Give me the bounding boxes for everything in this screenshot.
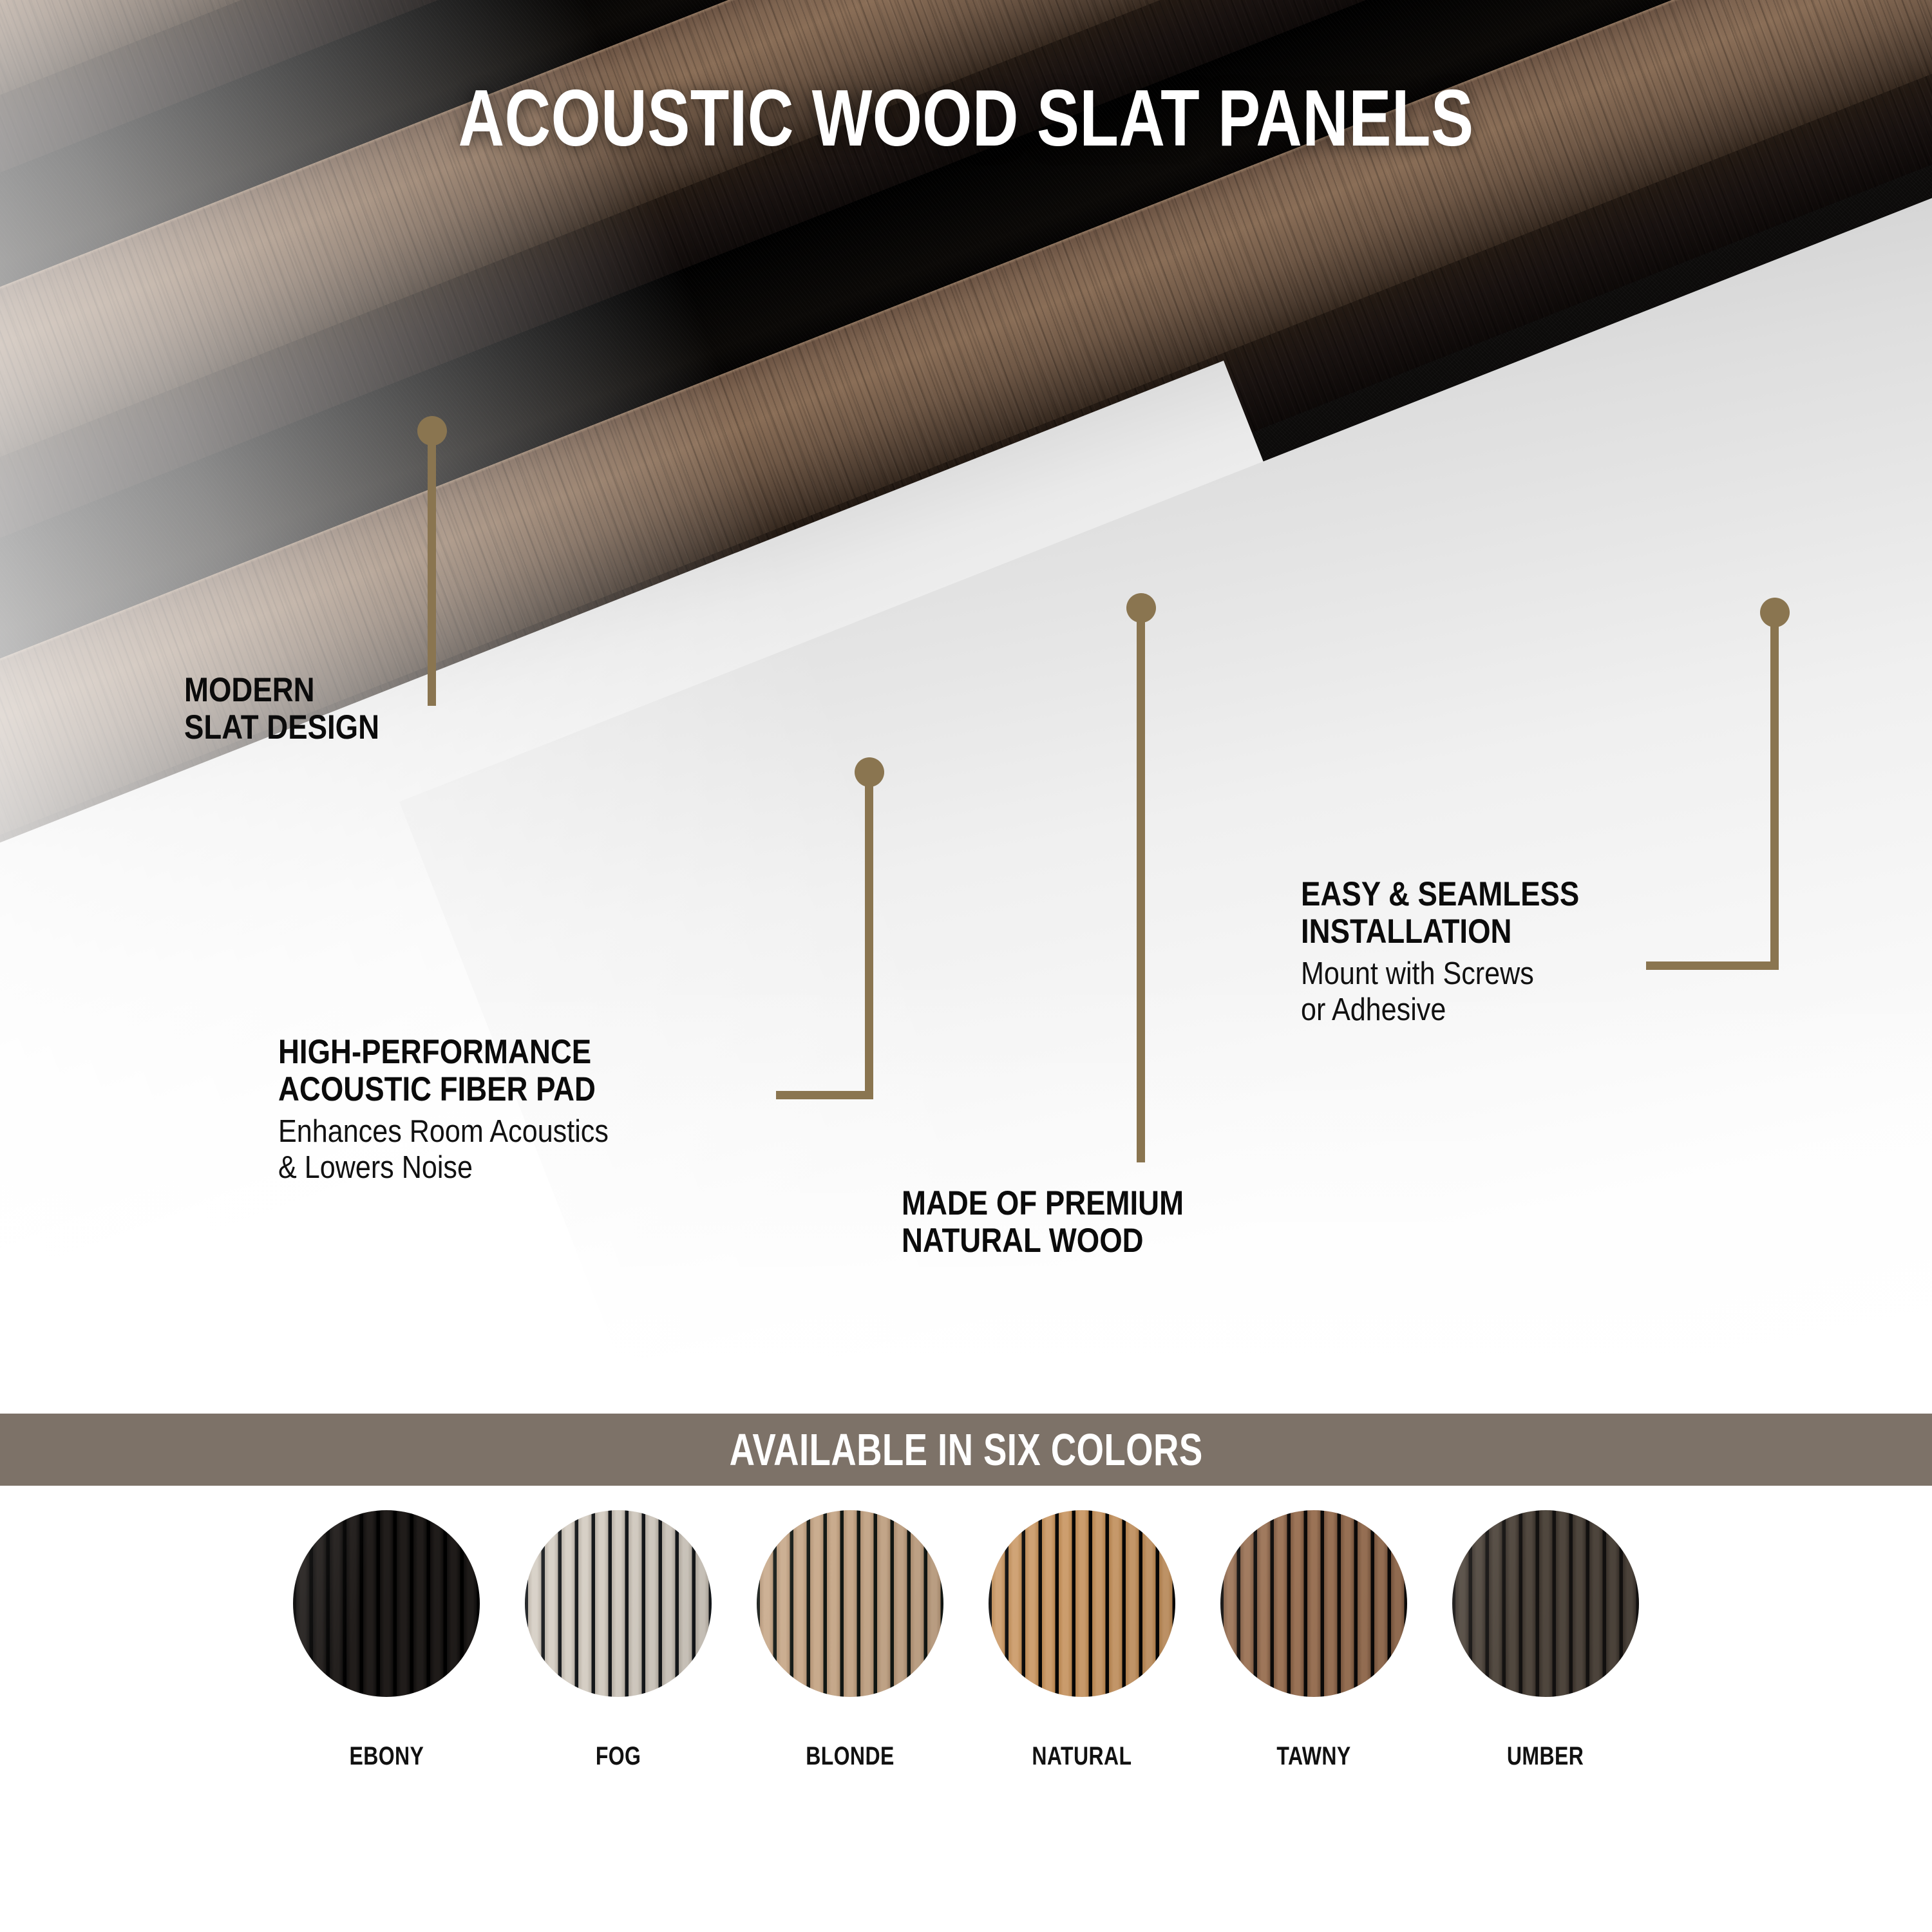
leader-line-acoustic-fiber-pad bbox=[865, 772, 873, 1099]
swatch-sheen bbox=[293, 1510, 480, 1697]
swatch-label: TAWNY bbox=[1276, 1743, 1350, 1769]
callout-easy-installation: EASY & SEAMLESS INSTALLATION Mount with … bbox=[1301, 876, 1816, 1028]
color-swatch-umber[interactable]: UMBER bbox=[1430, 1510, 1662, 1897]
color-swatch-tawny[interactable]: TAWNY bbox=[1198, 1510, 1430, 1897]
callout-modern-slat-design: MODERN SLAT DESIGN bbox=[184, 672, 674, 746]
color-swatch-fog[interactable]: FOG bbox=[502, 1510, 734, 1897]
callout-heading: MADE OF PREMIUM NATURAL WOOD bbox=[902, 1185, 1345, 1259]
leader-line-modern-slat-design bbox=[428, 430, 436, 706]
swatch-label: UMBER bbox=[1507, 1743, 1584, 1769]
page-title: ACOUSTIC WOOD SLAT PANELS bbox=[193, 79, 1739, 158]
color-swatch-ebony[interactable]: EBONY bbox=[270, 1510, 502, 1897]
banner-title: AVAILABLE IN SIX COLORS bbox=[730, 1427, 1203, 1472]
swatch-sheen bbox=[757, 1510, 943, 1697]
callout-heading: HIGH-PERFORMANCE ACOUSTIC FIBER PAD bbox=[278, 1034, 755, 1108]
swatch-preview bbox=[525, 1510, 712, 1697]
callout-heading: EASY & SEAMLESS INSTALLATION bbox=[1301, 876, 1744, 950]
swatch-sheen bbox=[525, 1510, 712, 1697]
swatch-sheen bbox=[989, 1510, 1175, 1697]
color-swatch-natural[interactable]: NATURAL bbox=[966, 1510, 1198, 1897]
callout-subtext: Mount with Screws or Adhesive bbox=[1301, 956, 1754, 1028]
leader-line-premium-natural-wood bbox=[1137, 607, 1145, 1162]
swatch-preview bbox=[1452, 1510, 1639, 1697]
swatch-label: BLONDE bbox=[806, 1743, 895, 1769]
swatch-sheen bbox=[1220, 1510, 1407, 1697]
swatch-preview bbox=[1220, 1510, 1407, 1697]
color-swatch-blonde[interactable]: BLONDE bbox=[734, 1510, 966, 1897]
swatch-preview bbox=[293, 1510, 480, 1697]
callout-subtext: Enhances Room Acoustics & Lowers Noise bbox=[278, 1113, 766, 1186]
callout-heading: MODERN SLAT DESIGN bbox=[184, 672, 605, 746]
available-colors-banner: AVAILABLE IN SIX COLORS bbox=[0, 1414, 1932, 1486]
swatch-label: EBONY bbox=[349, 1743, 424, 1769]
swatch-preview bbox=[989, 1510, 1175, 1697]
swatch-label: FOG bbox=[596, 1743, 641, 1769]
infographic-page: ACOUSTIC WOOD SLAT PANELS MODERN SLAT DE… bbox=[0, 0, 1932, 1932]
callout-acoustic-fiber-pad: HIGH-PERFORMANCE ACOUSTIC FIBER PAD Enha… bbox=[278, 1034, 832, 1186]
swatch-preview bbox=[757, 1510, 943, 1697]
color-swatch-row: EBONYFOGBLONDENATURALTAWNYUMBER bbox=[0, 1510, 1932, 1897]
callout-premium-natural-wood: MADE OF PREMIUM NATURAL WOOD bbox=[902, 1185, 1417, 1259]
swatch-sheen bbox=[1452, 1510, 1639, 1697]
swatch-label: NATURAL bbox=[1032, 1743, 1132, 1769]
